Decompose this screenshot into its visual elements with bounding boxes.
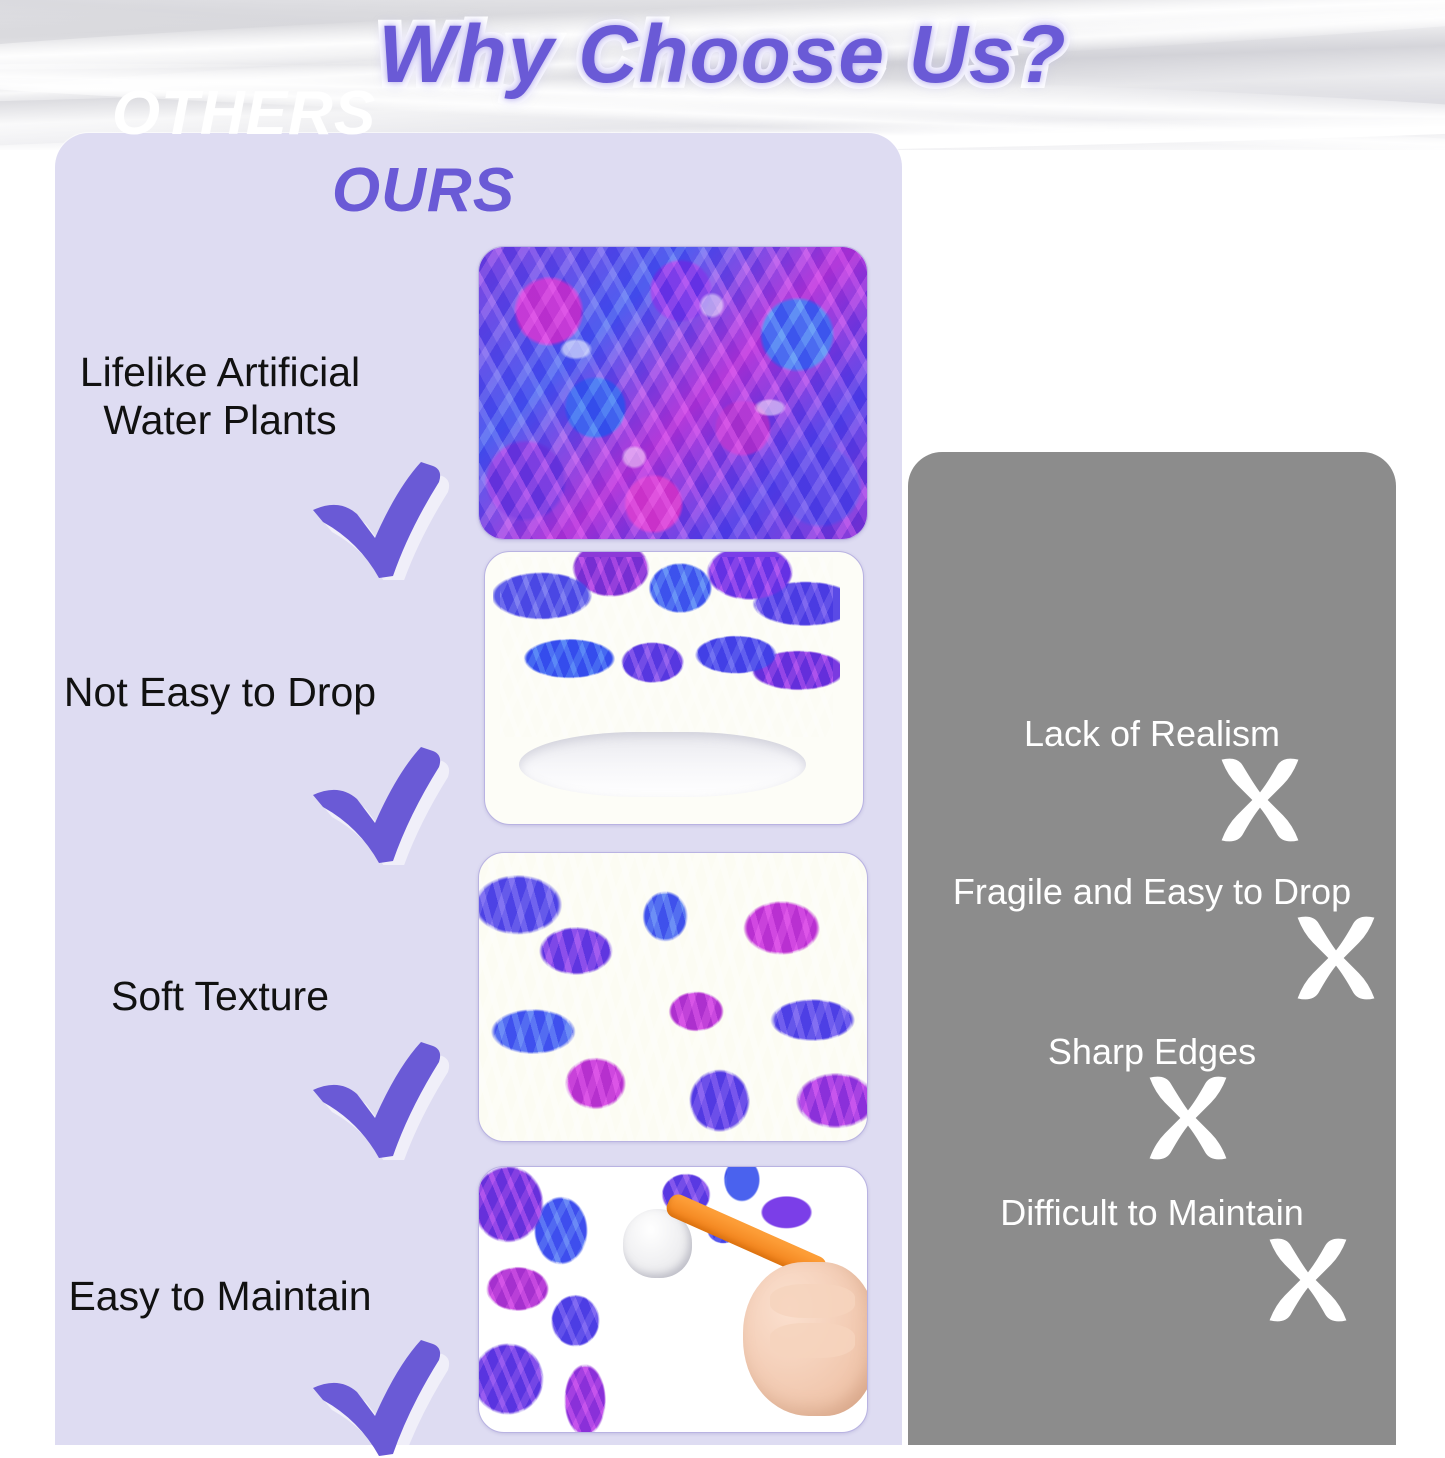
check-icon: [305, 1040, 455, 1160]
others-item-label-1: Lack of Realism: [908, 713, 1396, 755]
ours-item-label-2: Not Easy to Drop: [20, 668, 420, 716]
x-mark-icon: [1288, 910, 1384, 1006]
x-mark-icon: [1140, 1070, 1236, 1166]
ours-image-4: [478, 1166, 868, 1433]
others-item-label-4: Difficult to Maintain: [908, 1192, 1396, 1234]
check-icon: [305, 460, 455, 580]
ours-item-label-4: Easy to Maintain: [20, 1272, 420, 1320]
ours-item-label-3: Soft Texture: [20, 972, 420, 1020]
others-item-label-3: Sharp Edges: [908, 1031, 1396, 1073]
check-icon: [305, 745, 455, 865]
ours-image-2: [484, 551, 864, 825]
ours-image-3: [478, 852, 868, 1142]
others-item-label-2: Fragile and Easy to Drop: [908, 871, 1396, 913]
x-mark-icon: [1212, 752, 1308, 848]
x-mark-icon: [1260, 1232, 1356, 1328]
ours-image-1: [478, 246, 868, 540]
ours-heading: OURS: [0, 155, 847, 226]
check-icon: [305, 1338, 455, 1458]
page-title: Why Choose Us?: [0, 8, 1445, 102]
ours-item-label-1: Lifelike Artificial Water Plants: [20, 348, 420, 445]
